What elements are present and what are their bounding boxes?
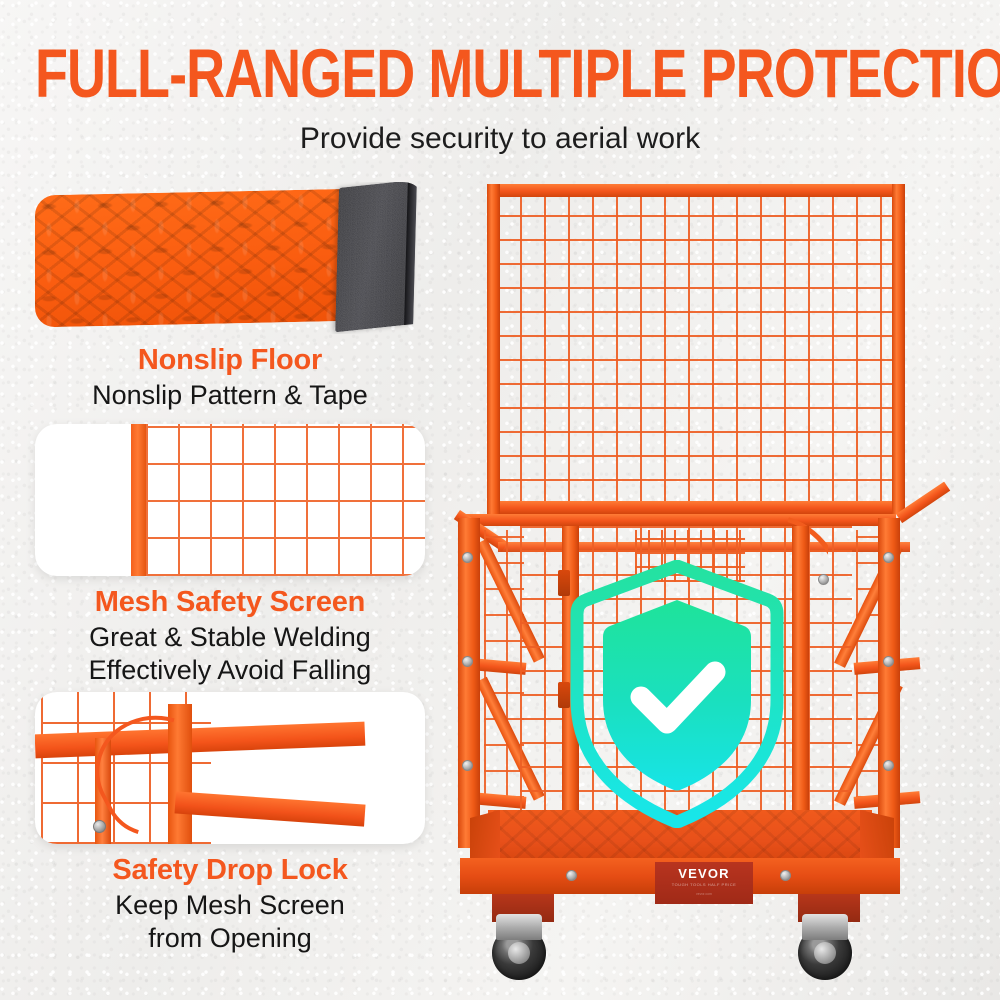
feature-title: Safety Drop Lock (20, 854, 440, 887)
corner-bolt-low-right (883, 760, 894, 771)
back-panel-left-post (487, 184, 500, 514)
cage-front-left-post (458, 518, 480, 848)
corner-bolt-mid-right (883, 656, 894, 667)
swivel-caster-right-hub (814, 942, 836, 964)
diamond-plate-mat (35, 189, 365, 328)
feature-description: Nonslip Pattern & Tape (20, 379, 440, 412)
cage-front-right-post (878, 518, 900, 848)
vevor-logo-text: VEVOR (678, 867, 730, 880)
vevor-tagline: TOUGH TOOLS HALF PRICE (672, 882, 737, 887)
feature-block-drop-lock: Safety Drop Lock Keep Mesh Screen from O… (20, 692, 440, 955)
forklift-safety-cage: VEVOR TOUGH TOOLS HALF PRICE vevor.com (450, 170, 990, 1000)
feature-description-line2: Effectively Avoid Falling (20, 654, 440, 687)
feature-block-mesh-screen: Mesh Safety Screen Great & Stable Weldin… (20, 424, 440, 687)
drop-lock-thumbnail (35, 692, 425, 844)
anti-slip-tape (335, 182, 417, 332)
corner-bolt-mid-left (462, 656, 473, 667)
corner-bolt-top-left (462, 552, 473, 563)
vevor-brand-plate: VEVOR TOUGH TOOLS HALF PRICE vevor.com (655, 862, 753, 904)
back-panel-right-post (892, 184, 905, 514)
back-mesh-panel (487, 184, 905, 514)
corner-bolt-low-left (462, 760, 473, 771)
vevor-subtext: vevor.com (696, 892, 712, 896)
back-panel-mesh (496, 193, 896, 505)
feature-description-line1: Keep Mesh Screen (20, 889, 440, 922)
swivel-caster-right-housing (802, 914, 848, 940)
protection-shield-badge (568, 560, 786, 828)
floor-bolt-right (780, 870, 791, 881)
back-panel-bottom-rail (487, 501, 905, 514)
feature-block-nonslip-floor: Nonslip Floor Nonslip Pattern & Tape (20, 182, 440, 412)
feature-title: Nonslip Floor (20, 344, 440, 377)
lock-pivot-bolt (93, 820, 106, 833)
feature-description-line2: from Opening (20, 922, 440, 955)
mesh-screen-thumbnail (35, 424, 425, 576)
swivel-caster-left-hub (508, 942, 530, 964)
mesh-frame-post (131, 424, 146, 576)
floor-bolt-left (566, 870, 577, 881)
drop-lock-pivot-bolt (818, 574, 829, 585)
shield-body (603, 600, 751, 790)
cage-top-front-rail (460, 514, 896, 526)
diamond-pattern (35, 189, 365, 328)
back-panel-top-rail (487, 184, 905, 197)
nonslip-floor-thumbnail (35, 182, 425, 334)
swivel-caster-left-housing (496, 914, 542, 940)
wire-mesh-grid (146, 424, 425, 576)
page-subtitle: Provide security to aerial work (0, 122, 1000, 156)
cage-gate-right-post (792, 526, 809, 844)
feature-description-line1: Great & Stable Welding (20, 621, 440, 654)
page-title: FULL-RANGED MULTIPLE PROTECTION (35, 38, 965, 111)
feature-title: Mesh Safety Screen (20, 586, 440, 619)
corner-bolt-top-right (883, 552, 894, 563)
